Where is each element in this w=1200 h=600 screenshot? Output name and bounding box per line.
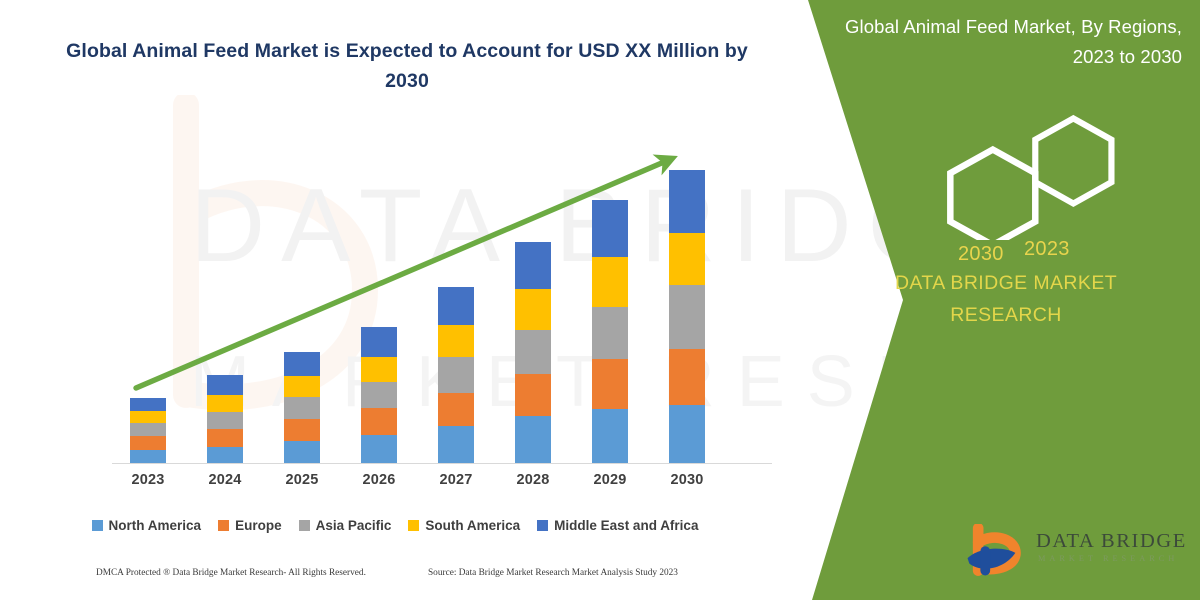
bar-2023[interactable]: [130, 398, 166, 463]
chart-legend: North America Europe Asia Pacific South …: [0, 518, 790, 533]
bar-2026[interactable]: [361, 327, 397, 463]
segment-north-america: [284, 441, 320, 463]
x-tick-2024: 2024: [190, 472, 260, 488]
hexagon-group: 2030 2023: [812, 100, 1200, 240]
panel-content: Global Animal Feed Market, By Regions, 2…: [812, 0, 1200, 600]
segment-middle-east-africa: [592, 200, 628, 257]
legend-label: South America: [425, 518, 520, 533]
legend-label: Europe: [235, 518, 282, 533]
x-tick-2028: 2028: [498, 472, 568, 488]
data-bridge-logo-mark-icon: [964, 524, 1026, 580]
x-tick-2026: 2026: [344, 472, 414, 488]
segment-north-america: [207, 447, 243, 463]
bar-2028[interactable]: [515, 242, 551, 463]
segment-middle-east-africa: [284, 352, 320, 376]
segment-south-america: [438, 325, 474, 357]
segment-middle-east-africa: [130, 398, 166, 411]
logo-wordmark: DATA BRIDGE: [1036, 530, 1187, 553]
segment-middle-east-africa: [438, 287, 474, 325]
segment-middle-east-africa: [207, 375, 243, 395]
bar-2024[interactable]: [207, 375, 243, 463]
legend-swatch-icon: [408, 520, 419, 531]
segment-europe: [438, 393, 474, 426]
logo-tagline: MARKET RESEARCH: [1038, 554, 1178, 563]
segment-south-america: [130, 411, 166, 423]
segment-europe: [207, 429, 243, 447]
segment-asia-pacific: [130, 423, 166, 436]
segment-asia-pacific: [284, 397, 320, 419]
legend-item-middle-east-africa[interactable]: Middle East and Africa: [537, 518, 698, 533]
segment-europe: [592, 359, 628, 409]
x-tick-2029: 2029: [575, 472, 645, 488]
legend-swatch-icon: [218, 520, 229, 531]
segment-middle-east-africa: [361, 327, 397, 357]
segment-north-america: [669, 405, 705, 463]
legend-swatch-icon: [299, 520, 310, 531]
segment-north-america: [361, 435, 397, 463]
footer-copyright: DMCA Protected ® Data Bridge Market Rese…: [96, 568, 366, 578]
legend-item-south-america[interactable]: South America: [408, 518, 520, 533]
panel-brand: DATA BRIDGE MARKET RESEARCH: [812, 268, 1200, 331]
segment-south-america: [284, 376, 320, 397]
segment-asia-pacific: [669, 285, 705, 349]
legend-item-asia-pacific[interactable]: Asia Pacific: [299, 518, 392, 533]
segment-north-america: [438, 426, 474, 463]
segment-europe: [284, 419, 320, 441]
chart-region: Global Animal Feed Market is Expected to…: [0, 0, 808, 600]
x-tick-2030: 2030: [652, 472, 722, 488]
bar-2030[interactable]: [669, 170, 705, 463]
footer-source: Source: Data Bridge Market Research Mark…: [428, 568, 678, 578]
segment-asia-pacific: [592, 307, 628, 359]
segment-north-america: [130, 450, 166, 463]
legend-label: North America: [109, 518, 202, 533]
segment-europe: [361, 408, 397, 435]
segment-asia-pacific: [438, 357, 474, 393]
panel-brand-line1: DATA BRIDGE MARKET: [895, 272, 1117, 294]
x-axis-line: [112, 463, 772, 464]
x-tick-2027: 2027: [421, 472, 491, 488]
segment-europe: [515, 374, 551, 416]
legend-label: Asia Pacific: [316, 518, 392, 533]
x-tick-2023: 2023: [113, 472, 183, 488]
segment-south-america: [207, 395, 243, 412]
legend-swatch-icon: [92, 520, 103, 531]
panel-title: Global Animal Feed Market, By Regions, 2…: [830, 12, 1182, 72]
segment-north-america: [592, 409, 628, 463]
segment-middle-east-africa: [669, 170, 705, 233]
legend-item-europe[interactable]: Europe: [218, 518, 282, 533]
segment-europe: [130, 436, 166, 450]
segment-south-america: [592, 257, 628, 307]
segment-south-america: [669, 233, 705, 285]
hexagon-label-2023: 2023: [1024, 238, 1070, 261]
hexagon-shapes-icon: [812, 100, 1200, 240]
infographic-canvas: DATA BRIDGE MARKET RESEARCH Global Anima…: [0, 0, 1200, 600]
hexagon-label-2030: 2030: [958, 243, 1004, 266]
segment-asia-pacific: [207, 412, 243, 429]
segment-asia-pacific: [361, 382, 397, 408]
x-tick-2025: 2025: [267, 472, 337, 488]
bar-2029[interactable]: [592, 200, 628, 463]
legend-swatch-icon: [537, 520, 548, 531]
segment-asia-pacific: [515, 330, 551, 374]
legend-label: Middle East and Africa: [554, 518, 698, 533]
segment-middle-east-africa: [515, 242, 551, 289]
segment-south-america: [361, 357, 397, 382]
segment-europe: [669, 349, 705, 405]
legend-item-north-america[interactable]: North America: [92, 518, 202, 533]
segment-north-america: [515, 416, 551, 463]
bar-2027[interactable]: [438, 287, 474, 463]
company-logo[interactable]: DATA BRIDGE MARKET RESEARCH: [964, 520, 1194, 586]
plot-area: 2023 2024 2025 2026 2027 2028 2029 2030: [0, 0, 808, 600]
segment-south-america: [515, 289, 551, 330]
bar-2025[interactable]: [284, 352, 320, 463]
panel-brand-line2: RESEARCH: [950, 304, 1062, 326]
